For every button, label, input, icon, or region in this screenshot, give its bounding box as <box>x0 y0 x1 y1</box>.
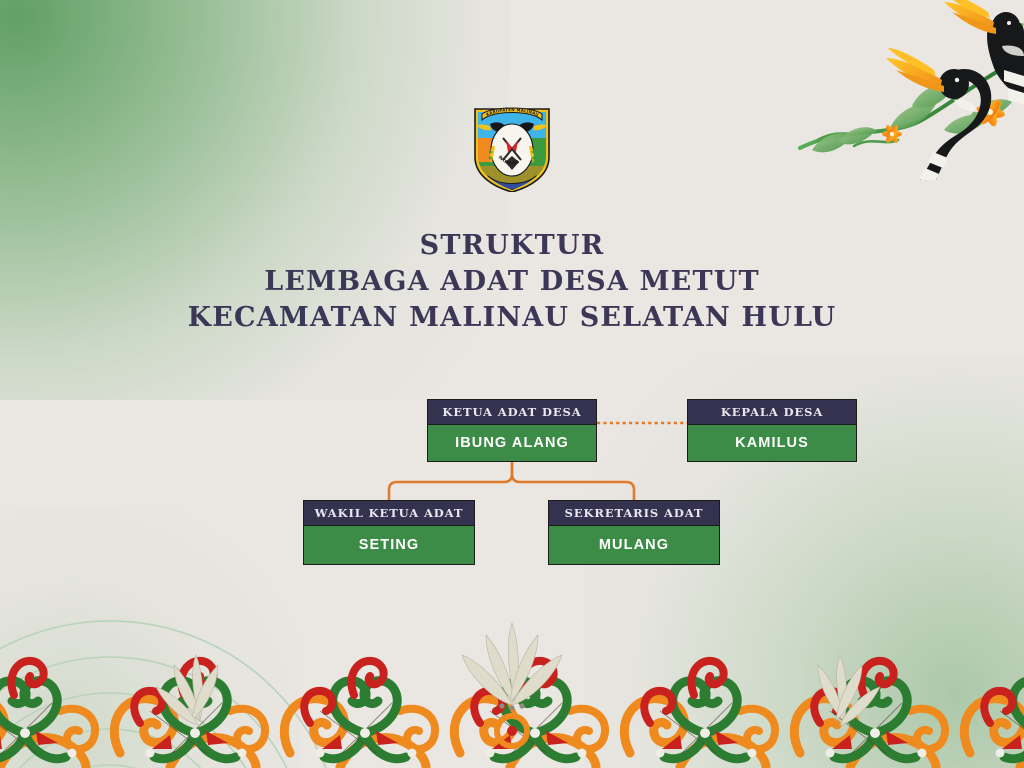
org-node-ketua-role: KETUA ADAT DESA <box>428 400 596 425</box>
org-node-ketua[interactable]: KETUA ADAT DESA IBUNG ALANG <box>427 399 597 462</box>
org-node-kepala-desa[interactable]: KEPALA DESA KAMILUS <box>687 399 857 462</box>
org-node-kepala-desa-name: KAMILUS <box>688 425 856 461</box>
org-chart: KETUA ADAT DESA IBUNG ALANG KEPALA DESA … <box>0 0 1024 768</box>
org-node-ketua-name: IBUNG ALANG <box>428 425 596 461</box>
org-node-wakil-ketua-role: WAKIL KETUA ADAT <box>304 501 474 526</box>
org-node-kepala-desa-role: KEPALA DESA <box>688 400 856 425</box>
org-node-sekretaris-role: SEKRETARIS ADAT <box>549 501 719 526</box>
edge-ketua-sekretaris <box>512 458 634 500</box>
org-node-sekretaris[interactable]: SEKRETARIS ADAT MULANG <box>548 500 720 565</box>
org-node-sekretaris-name: MULANG <box>549 526 719 564</box>
org-chart-connectors <box>0 0 1024 768</box>
edge-ketua-wakil <box>389 458 512 500</box>
org-node-wakil-ketua-name: SETING <box>304 526 474 564</box>
poster-canvas: INTIMUNG KABUPATEN MALINAU <box>0 0 1024 768</box>
org-node-wakil-ketua[interactable]: WAKIL KETUA ADAT SETING <box>303 500 475 565</box>
